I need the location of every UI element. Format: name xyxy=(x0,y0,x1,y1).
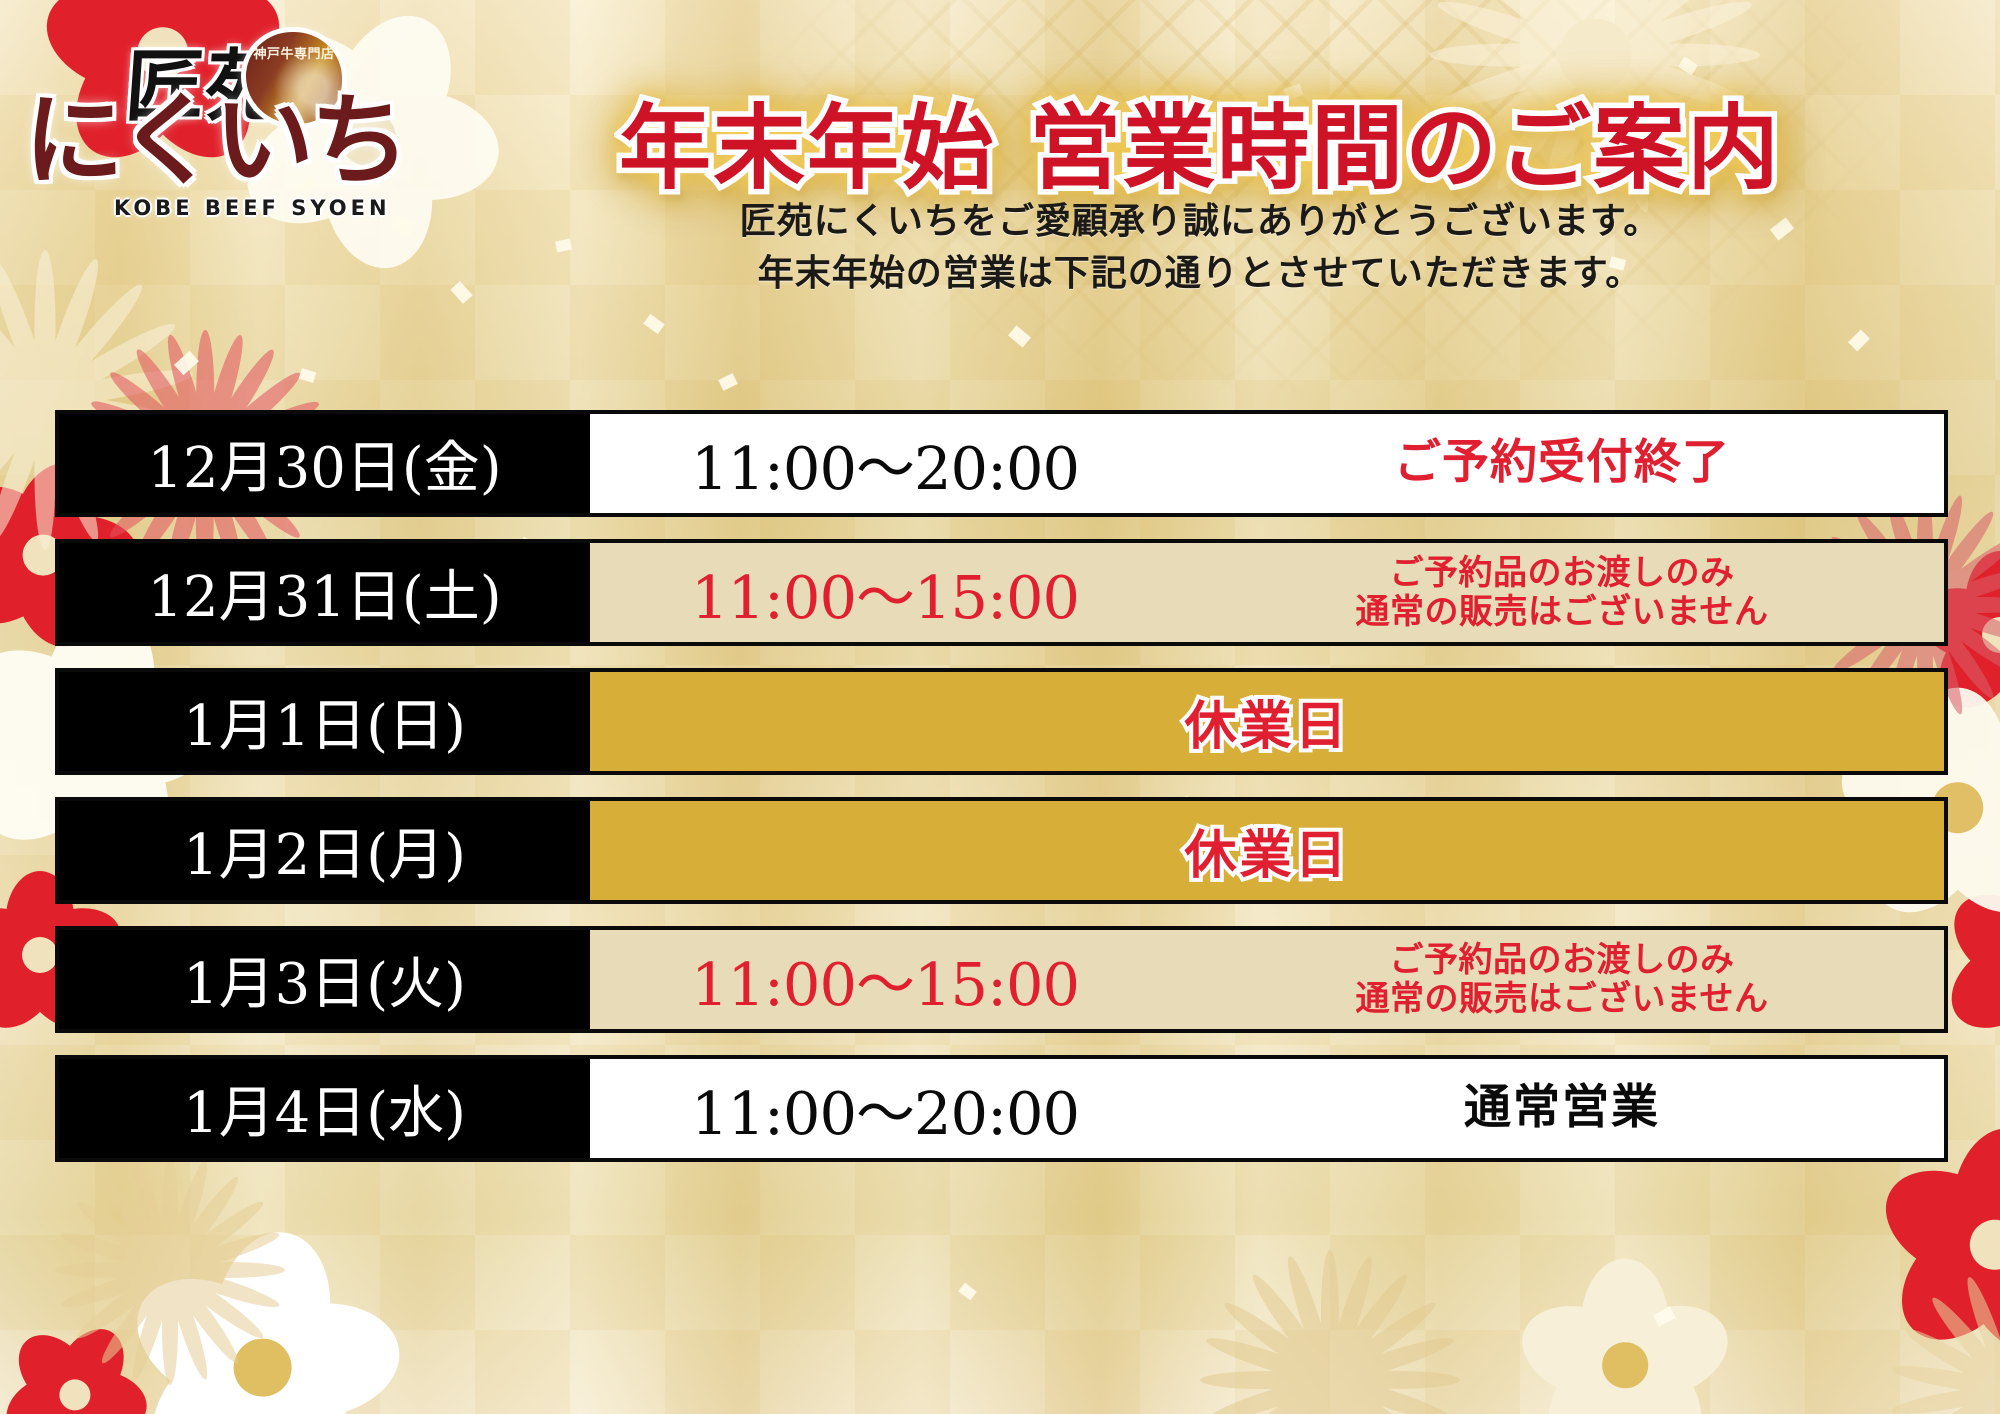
chrysanthemum-petal xyxy=(1325,1296,1441,1387)
schedule-detail-cell: 休業日 xyxy=(590,801,1944,900)
chrysanthemum-right-lower xyxy=(1890,1270,2000,1414)
chrysanthemum-petal xyxy=(1588,0,1735,64)
schedule-row: 12月31日(土)11:00〜15:00ご予約品のお渡しのみ 通常の販売はござい… xyxy=(55,539,1948,646)
chrysanthemum-petal xyxy=(1246,1269,1337,1385)
chrysanthemum-petal xyxy=(163,1172,244,1274)
chrysanthemum-petal xyxy=(162,1155,178,1270)
chrysanthemum-petal xyxy=(168,1262,282,1313)
chrysanthemum-petal xyxy=(1327,1331,1456,1388)
schedule-date-cell: 12月31日(土) xyxy=(59,543,590,642)
chrysanthemum-petal xyxy=(0,316,50,409)
chrysanthemum-petal xyxy=(127,1268,178,1382)
chrysanthemum-petal xyxy=(1584,0,1657,59)
chrysanthemum-petal xyxy=(1321,1254,1378,1383)
chrysanthemum-petal xyxy=(1455,0,1602,64)
chrysanthemum-petal xyxy=(0,255,55,403)
schedule-note: ご予約品のお渡しのみ 通常の販売はございません xyxy=(1180,941,1944,1017)
intro-message: 匠苑にくいちをご愛顧承り誠にありがとうございます。 年末年始の営業は下記の通りと… xyxy=(420,196,1980,300)
chrysanthemum-petal xyxy=(1219,1373,1335,1414)
schedule-row: 12月30日(金)11:00〜20:00ご予約受付終了 xyxy=(55,410,1948,517)
schedule-date-cell: 1月2日(月) xyxy=(59,801,590,900)
chrysanthemum-petal xyxy=(1961,1387,2000,1414)
chrysanthemum-petal xyxy=(1890,1382,2000,1414)
chrysanthemum-petal xyxy=(127,1158,178,1272)
chrysanthemum-petal xyxy=(1902,1383,2000,1414)
plum-blossom-red-right-mid xyxy=(1950,880,2000,1045)
chrysanthemum-center xyxy=(1301,1351,1358,1408)
schedule-detail-cell: 11:00〜15:00ご予約品のお渡しのみ 通常の販売はございません xyxy=(590,543,1944,642)
chrysanthemum-petal xyxy=(1330,1371,1460,1389)
schedule-hours: 11:00〜20:00 xyxy=(590,421,1180,506)
poster-canvas: 匠苑 神戸牛専門店 にくいち KOBE BEEF SYOEN 年末年始 営業時間… xyxy=(0,0,2000,1414)
chrysanthemum-petal xyxy=(72,1263,174,1344)
intro-line-1: 匠苑にくいちをご愛顧承り誠にありがとうございます。 xyxy=(420,196,1980,248)
schedule-note: 通常営業 xyxy=(1180,1082,1944,1135)
chrysanthemum-petal xyxy=(1323,1269,1414,1385)
chrysanthemum-petal xyxy=(1533,0,1606,59)
chrysanthemum-petal xyxy=(43,364,194,411)
chrysanthemum-petal xyxy=(1323,1375,1414,1414)
schedule-detail-cell: 11:00〜20:00ご予約受付終了 xyxy=(590,414,1944,513)
chrysanthemum-petal xyxy=(1321,1380,1339,1414)
schedule-hours: 11:00〜20:00 xyxy=(590,1066,1180,1151)
schedule-row: 1月1日(日)休業日 xyxy=(55,668,1948,775)
confetti-flake xyxy=(174,351,199,375)
logo-name-nikuichi: にくいち xyxy=(24,92,406,188)
plum-blossom-red-bottomright xyxy=(1890,1140,2000,1350)
chrysanthemum-center xyxy=(1984,1364,2000,1414)
chrysanthemum-petal xyxy=(0,396,55,544)
schedule-detail-cell: 11:00〜15:00ご予約品のお渡しのみ 通常の販売はございません xyxy=(590,930,1944,1029)
chrysanthemum-petal xyxy=(1204,1331,1333,1388)
schedule-row: 1月4日(水)11:00〜20:00通常営業 xyxy=(55,1055,1948,1162)
confetti-flake xyxy=(958,1283,977,1301)
chrysanthemum-petal xyxy=(35,400,56,550)
chrysanthemum-petal xyxy=(96,1172,177,1274)
schedule-hours: 11:00〜15:00 xyxy=(590,937,1180,1022)
chrysanthemum-petal xyxy=(1281,1377,1338,1414)
chrysanthemum-petal xyxy=(1926,1385,2000,1414)
chrysanthemum-petal xyxy=(168,1227,282,1278)
chrysanthemum-petal xyxy=(162,1268,213,1382)
chrysanthemum-petal xyxy=(165,1196,267,1277)
plum-blossom-red-bottomleft xyxy=(10,1330,140,1414)
chrysanthemum-center xyxy=(145,1245,196,1296)
chrysanthemum-petal xyxy=(1327,1371,1456,1414)
confetti-flake xyxy=(299,368,317,383)
chrysanthemum-petal xyxy=(1321,1250,1339,1380)
chrysanthemum-petal xyxy=(1204,1371,1333,1414)
chrysanthemum-petal xyxy=(1890,1361,2000,1398)
plum-blossom-cream-bottomright xyxy=(1530,1270,1720,1414)
chrysanthemum-petal xyxy=(0,278,53,406)
chrysanthemum-petal xyxy=(1435,0,1599,66)
chrysanthemum-petal xyxy=(37,278,150,406)
schedule-date-cell: 1月1日(日) xyxy=(59,672,590,771)
schedule-date-cell: 1月3日(火) xyxy=(59,930,590,1029)
chrysanthemum-petal xyxy=(0,391,50,484)
chrysanthemum-petal xyxy=(170,1262,285,1278)
chrysanthemum-petal xyxy=(1246,1375,1337,1414)
schedule-row: 1月2日(月)休業日 xyxy=(55,797,1948,904)
chrysanthemum-petal xyxy=(58,1227,172,1278)
chrysanthemum-petal xyxy=(162,1158,213,1272)
chrysanthemum-petal xyxy=(0,390,47,437)
chrysanthemum-petal xyxy=(1321,1377,1378,1414)
chrysanthemum-petal xyxy=(162,1270,178,1385)
chrysanthemum-petal xyxy=(1961,1274,2000,1393)
schedule-note: ご予約受付終了 xyxy=(1180,437,1944,490)
chrysanthemum-petal xyxy=(40,316,180,409)
intro-line-2: 年末年始の営業は下記の通りとさせていただきます。 xyxy=(420,248,1980,300)
schedule-date-cell: 12月30日(金) xyxy=(59,414,590,513)
chrysanthemum-bottom-right xyxy=(1200,1250,1460,1414)
chrysanthemum-petal xyxy=(0,364,47,411)
chrysanthemum-petal xyxy=(1586,0,1702,62)
page-title: 年末年始 営業時間のご案内 xyxy=(420,74,1980,207)
confetti-flake xyxy=(1848,330,1870,352)
confetti-flake xyxy=(643,314,665,334)
chrysanthemum-petal xyxy=(58,1262,172,1313)
brand-logo: 匠苑 神戸牛専門店 にくいち KOBE BEEF SYOEN xyxy=(18,10,438,230)
chrysanthemum-petal xyxy=(1325,1373,1441,1414)
chrysanthemum-petal xyxy=(1902,1323,2000,1398)
chrysanthemum-petal xyxy=(0,393,53,521)
chrysanthemum-petal xyxy=(1926,1293,2000,1396)
schedule-detail-cell: 11:00〜20:00通常営業 xyxy=(590,1059,1944,1158)
chrysanthemum-petal xyxy=(72,1196,174,1277)
confetti-flake xyxy=(1653,1306,1676,1326)
confetti-flake xyxy=(1008,325,1031,347)
chrysanthemum-petal xyxy=(1595,43,1760,66)
chrysanthemum-petal xyxy=(163,1265,244,1367)
chrysanthemum-petal xyxy=(96,1265,177,1367)
confetti-flake xyxy=(1678,57,1698,76)
business-hours-table: 12月30日(金)11:00〜20:00ご予約受付終了12月31日(土)11:0… xyxy=(55,410,1948,1162)
schedule-detail-cell: 休業日 xyxy=(590,672,1944,771)
chrysanthemum-petal xyxy=(35,255,106,403)
chrysanthemum-petal xyxy=(1281,1254,1338,1383)
schedule-note: ご予約品のお渡しのみ 通常の販売はございません xyxy=(1180,554,1944,630)
chrysanthemum-petal xyxy=(1200,1371,1330,1389)
plum-blossom-white-bottomleft xyxy=(140,1245,385,1414)
chrysanthemum-petal xyxy=(1591,0,1755,66)
schedule-row: 1月3日(火)11:00〜15:00ご予約品のお渡しのみ 通常の販売はございませ… xyxy=(55,926,1948,1033)
chrysanthemum-petal xyxy=(1430,43,1595,66)
closed-day-label: 休業日 xyxy=(590,684,1944,759)
chrysanthemum-petal xyxy=(35,250,56,400)
chrysanthemum-bottom-left xyxy=(55,1155,285,1385)
chrysanthemum-petal xyxy=(1489,0,1605,62)
logo-roman-subtitle: KOBE BEEF SYOEN xyxy=(114,196,391,220)
chrysanthemum-petal xyxy=(165,1263,267,1344)
chrysanthemum-petal xyxy=(1219,1296,1335,1387)
schedule-date-cell: 1月4日(水) xyxy=(59,1059,590,1158)
seal-label: 神戸牛専門店 xyxy=(246,43,342,62)
chrysanthemum-petal xyxy=(55,1262,170,1278)
confetti-flake xyxy=(718,373,738,391)
closed-day-label: 休業日 xyxy=(590,813,1944,888)
chrysanthemum-petal xyxy=(1583,0,1606,55)
schedule-hours: 11:00〜15:00 xyxy=(590,550,1180,635)
